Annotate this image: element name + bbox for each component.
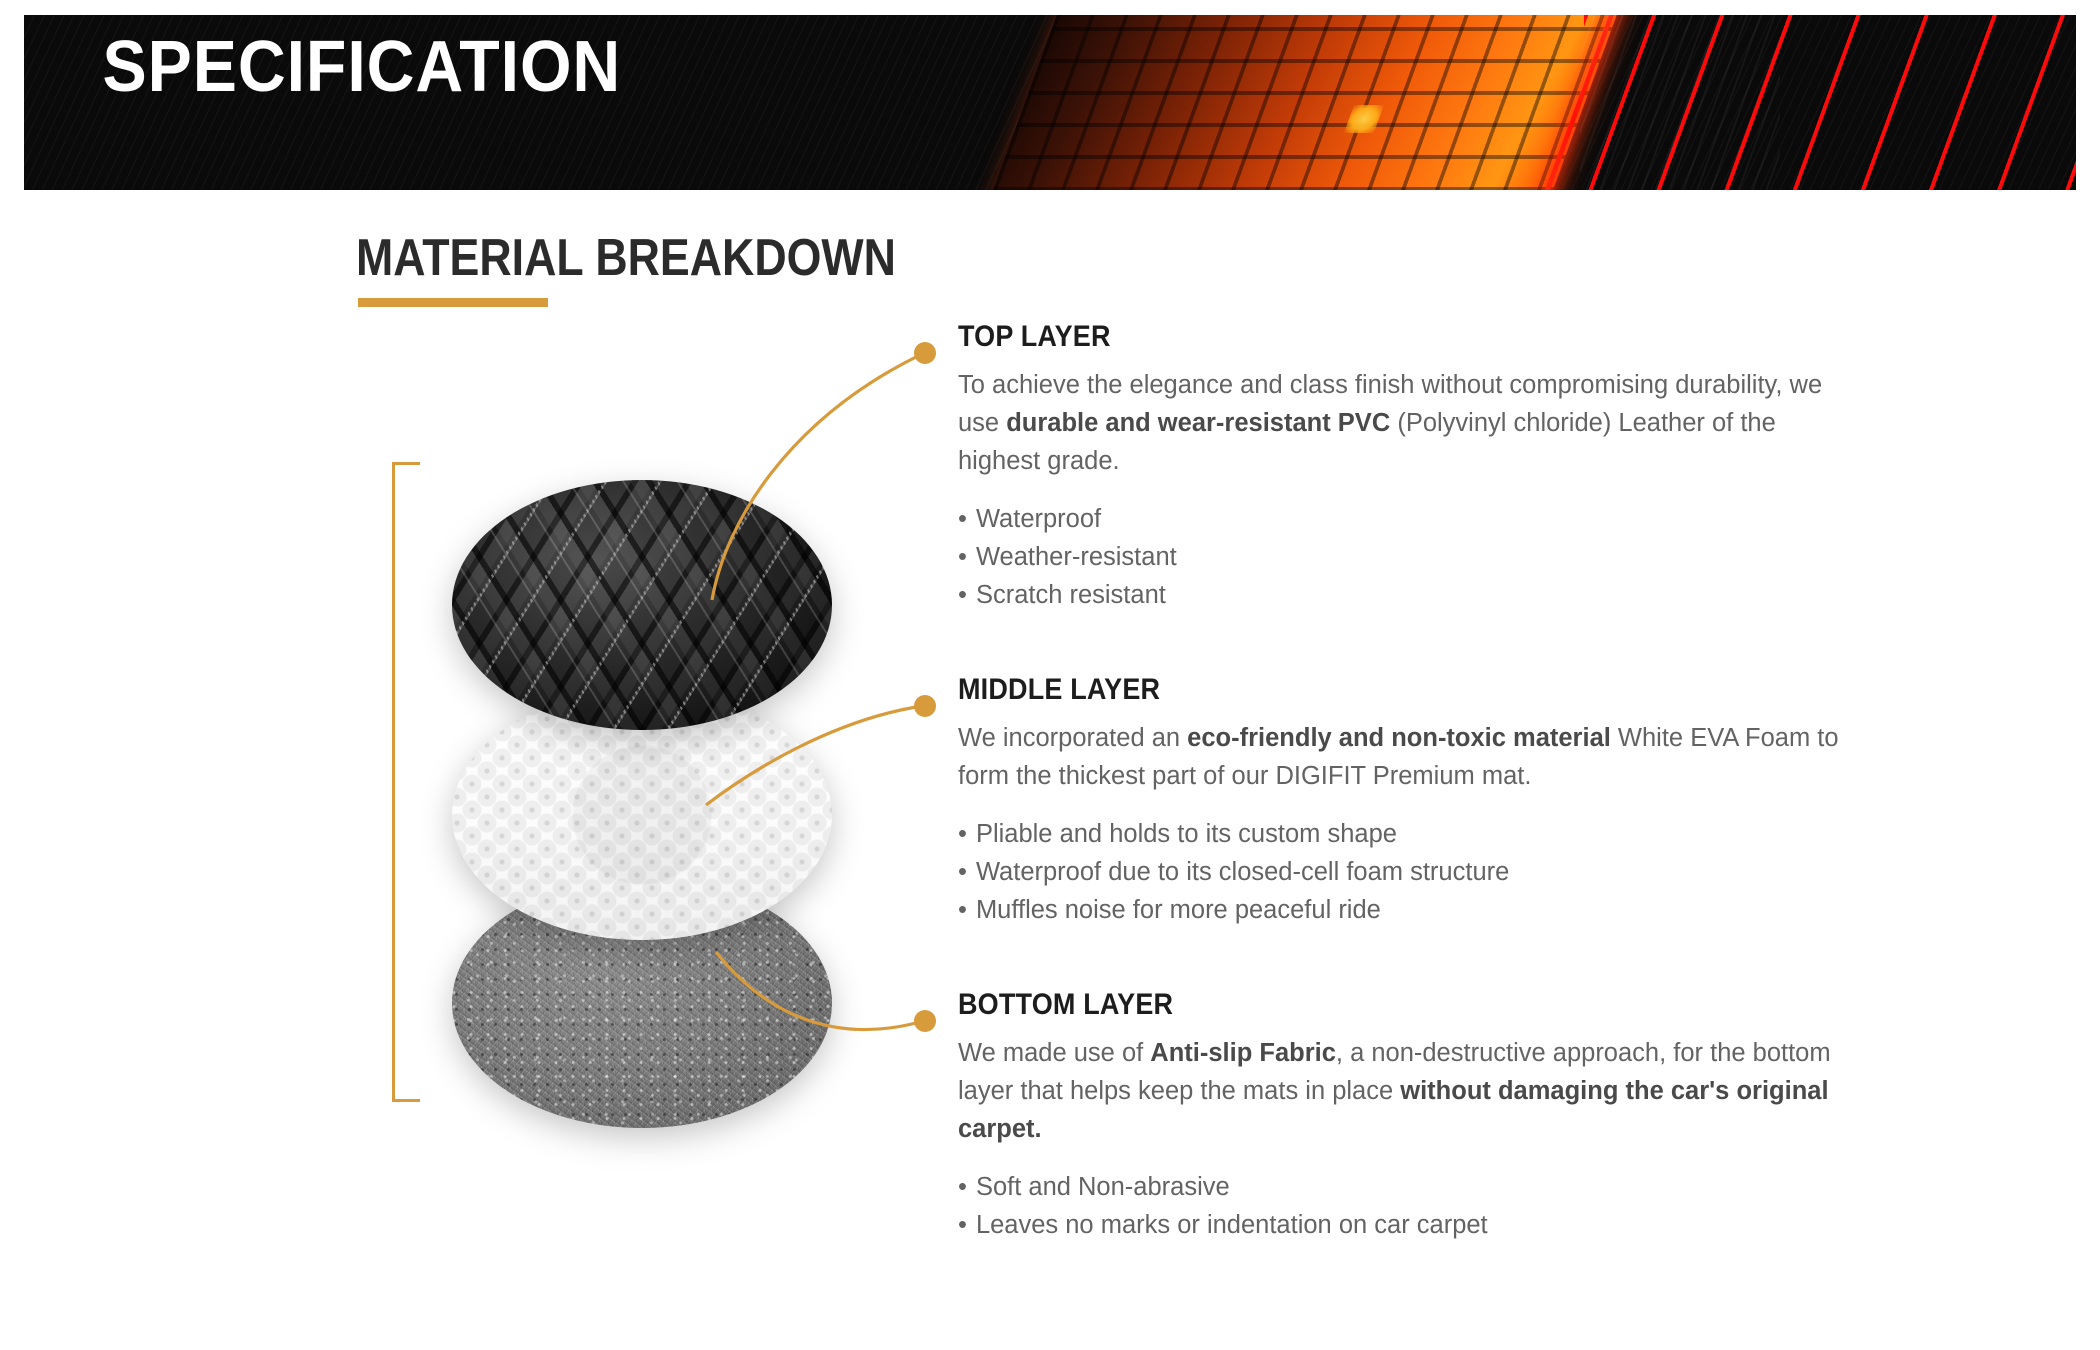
bottom-layer-bullets: Soft and Non-abrasive Leaves no marks or…	[958, 1168, 1863, 1244]
list-item: Pliable and holds to its custom shape	[958, 815, 1863, 853]
bottom-layer-paragraph: We made use of Anti-slip Fabric, a non-d…	[958, 1034, 1863, 1148]
list-item: Soft and Non-abrasive	[958, 1168, 1863, 1206]
top-layer-bullets: Waterproof Weather-resistant Scratch res…	[958, 500, 1863, 614]
list-item: Muffles noise for more peaceful ride	[958, 891, 1863, 929]
banner-red-diagonal-lines	[1584, 15, 2076, 190]
top-layer-swatch	[452, 480, 832, 730]
middle-layer-heading-text: MIDDLE LAYER	[958, 675, 1160, 705]
grid-highlight-spark	[1344, 105, 1384, 133]
page-title: SPECIFICATION	[80, 67, 644, 139]
list-item: Scratch resistant	[958, 576, 1863, 614]
top-layer-paragraph: To achieve the elegance and class finish…	[958, 366, 1863, 480]
specification-banner: SPECIFICATION	[24, 15, 2076, 190]
middle-layer-leader-dot	[914, 695, 936, 717]
list-item: Leaves no marks or indentation on car ca…	[958, 1206, 1863, 1244]
middle-layer-heading: MIDDLE LAYER	[958, 675, 1863, 705]
section-title-text: MATERIAL BREAKDOWN	[356, 232, 896, 284]
bottom-layer-heading-text: BOTTOM LAYER	[958, 990, 1173, 1020]
list-item: Waterproof due to its closed-cell foam s…	[958, 853, 1863, 891]
page-title-text: SPECIFICATION	[103, 31, 622, 103]
layer-stack-bracket	[392, 462, 420, 1102]
bottom-layer-heading: BOTTOM LAYER	[958, 990, 1863, 1020]
section-title: MATERIAL BREAKDOWN	[356, 232, 984, 284]
section-title-underline	[358, 298, 548, 307]
list-item: Waterproof	[958, 500, 1863, 538]
bottom-layer-leader-dot	[914, 1010, 936, 1032]
middle-layer-bullets: Pliable and holds to its custom shape Wa…	[958, 815, 1863, 929]
middle-layer-paragraph: We incorporated an eco-friendly and non-…	[958, 719, 1863, 795]
banner-orange-grid-graphic	[969, 15, 1638, 190]
layer-block-bottom: BOTTOM LAYER We made use of Anti-slip Fa…	[958, 990, 1863, 1244]
top-layer-leader-dot	[914, 342, 936, 364]
layer-block-top: TOP LAYER To achieve the elegance and cl…	[958, 322, 1863, 614]
top-layer-heading: TOP LAYER	[958, 322, 1863, 352]
top-layer-heading-text: TOP LAYER	[958, 322, 1111, 352]
layer-block-middle: MIDDLE LAYER We incorporated an eco-frie…	[958, 675, 1863, 929]
list-item: Weather-resistant	[958, 538, 1863, 576]
